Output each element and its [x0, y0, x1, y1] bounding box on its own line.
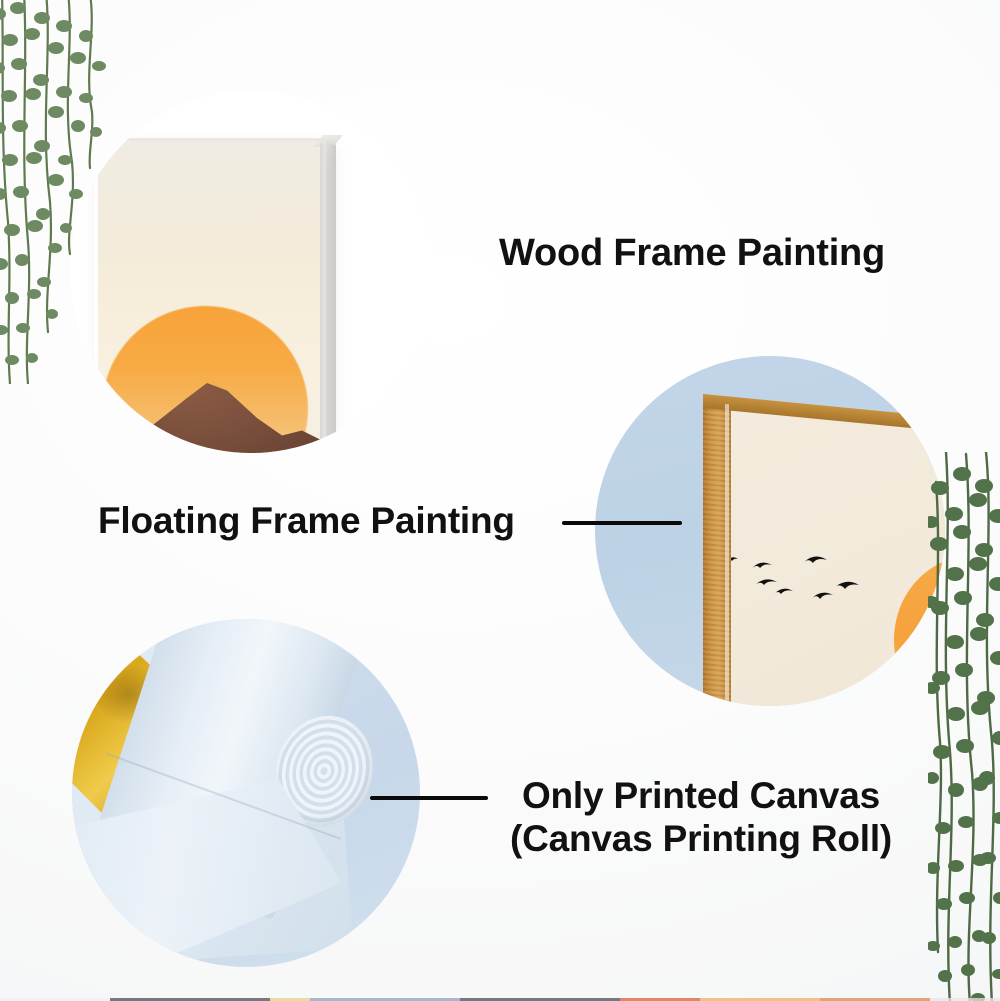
label-wood-frame-painting: Wood Frame Painting — [499, 232, 885, 275]
birds-flock-graphic — [726, 546, 886, 616]
infographic-canvas: Wood Frame Painting Floating Frame Paint… — [0, 0, 1000, 1001]
connector-line-floating-frame — [562, 521, 682, 525]
connector-line-printed-canvas — [370, 796, 488, 800]
wood-frame-canvas-face — [98, 138, 320, 453]
label-floating-frame-painting: Floating Frame Painting — [98, 500, 515, 542]
label-printed-canvas-line-2: (Canvas Printing Roll) — [481, 818, 921, 861]
label-only-printed-canvas: Only Printed Canvas (Canvas Printing Rol… — [481, 775, 921, 861]
printed-canvas-roll-photo — [72, 619, 420, 967]
sun-graphic — [894, 545, 945, 706]
floating-frame-air-gap — [725, 404, 729, 706]
wood-frame-side-edge — [320, 143, 336, 453]
floating-frame-painting-photo — [595, 356, 945, 706]
wood-frame-painting-photo — [70, 91, 432, 453]
label-printed-canvas-line-1: Only Printed Canvas — [481, 775, 921, 818]
